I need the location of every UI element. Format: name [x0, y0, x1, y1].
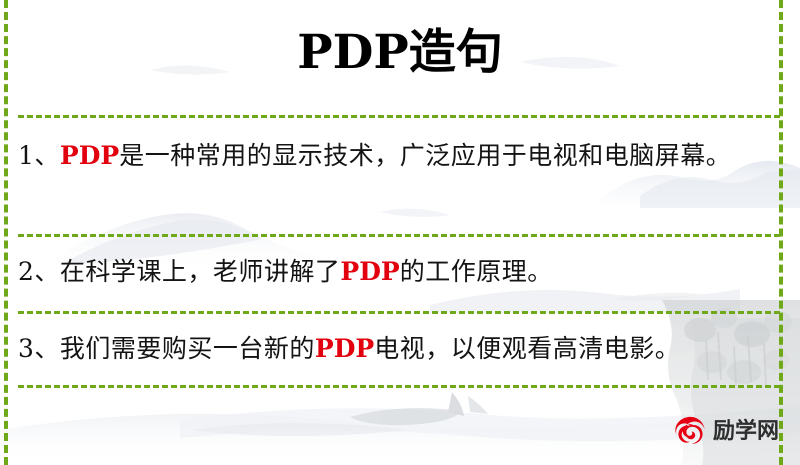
- sentence-item-3: 3、我们需要购买一台新的PDP电视，以便观看高清电影。: [18, 328, 770, 369]
- sentence-1-number: 1、: [18, 141, 60, 170]
- sentence-2-body-before: 在科学课上，老师讲解了: [60, 257, 341, 286]
- sentence-1-body: 是一种常用的显示技术，广泛应用于电视和电脑屏幕。: [119, 141, 731, 170]
- sentence-3-body-after: 电视，以便观看高清电影。: [374, 334, 680, 363]
- sentence-2-number: 2、: [18, 257, 60, 286]
- sentence-1-keyword: PDP: [60, 141, 119, 170]
- sentence-2-keyword: PDP: [340, 257, 399, 286]
- sentence-item-1: 1、PDP是一种常用的显示技术，广泛应用于电视和电脑屏幕。: [18, 135, 770, 176]
- slide-page: PDP造句 1、PDP是一种常用的显示技术，广泛应用于电视和电脑屏幕。 2、在科…: [0, 0, 800, 465]
- sentence-2-body-after: 的工作原理。: [400, 257, 553, 286]
- boat-watermark: [350, 392, 488, 425]
- site-logo-text: 励学网: [713, 421, 779, 443]
- page-title: PDP造句: [0, 22, 800, 84]
- divider-below-title: [18, 115, 780, 118]
- sentence-item-2: 2、在科学课上，老师讲解了PDP的工作原理。: [18, 251, 770, 292]
- site-logo[interactable]: 励学网: [672, 414, 779, 450]
- sentence-3-number: 3、: [18, 334, 60, 363]
- divider-after-sentence-3: [18, 385, 780, 388]
- sentence-3-keyword: PDP: [315, 334, 374, 363]
- red-swirl-phoenix-icon: [672, 414, 708, 450]
- divider-after-sentence-2: [18, 311, 780, 314]
- divider-after-sentence-1: [18, 234, 780, 237]
- sentence-3-body-before: 我们需要购买一台新的: [60, 334, 315, 363]
